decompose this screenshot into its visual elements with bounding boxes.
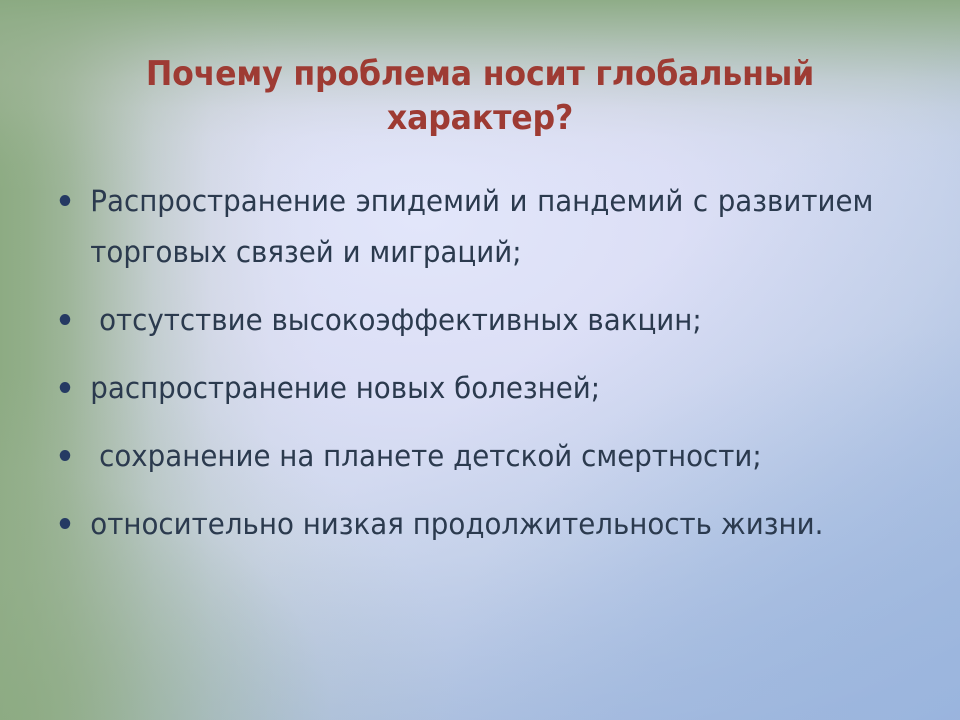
bullet-dot-icon [60, 314, 71, 325]
bullet-dot-icon [60, 518, 71, 529]
presentation-slide: Почему проблема носит глобальный характе… [0, 0, 960, 720]
list-item-text: отсутствие высокоэффективных вакцин; [90, 295, 873, 346]
list-item: сохранение на планете детской смертности… [54, 431, 873, 482]
slide-title-line-1: Почему проблема носит глобальный [89, 52, 870, 96]
list-item: распространение новых болезней; [54, 363, 873, 414]
list-item-text: распространение новых болезней; [90, 363, 873, 414]
slide-title: Почему проблема носит глобальный характе… [60, 52, 900, 140]
list-item: отсутствие высокоэффективных вакцин; [54, 295, 873, 346]
bullet-dot-icon [60, 195, 71, 206]
list-item-text: сохранение на планете детской смертности… [90, 431, 873, 482]
bullet-dot-icon [60, 450, 71, 461]
slide-bullet-list: Распространение эпидемий и пандемий с ра… [54, 176, 912, 550]
bullet-dot-icon [60, 382, 71, 393]
slide-title-line-2: характер? [89, 96, 870, 140]
list-item-text: относительно низкая продолжительность жи… [90, 499, 873, 550]
list-item: Распространение эпидемий и пандемий с ра… [54, 176, 873, 278]
list-item: относительно низкая продолжительность жи… [54, 499, 873, 550]
list-item-text: Распространение эпидемий и пандемий с ра… [90, 176, 873, 278]
